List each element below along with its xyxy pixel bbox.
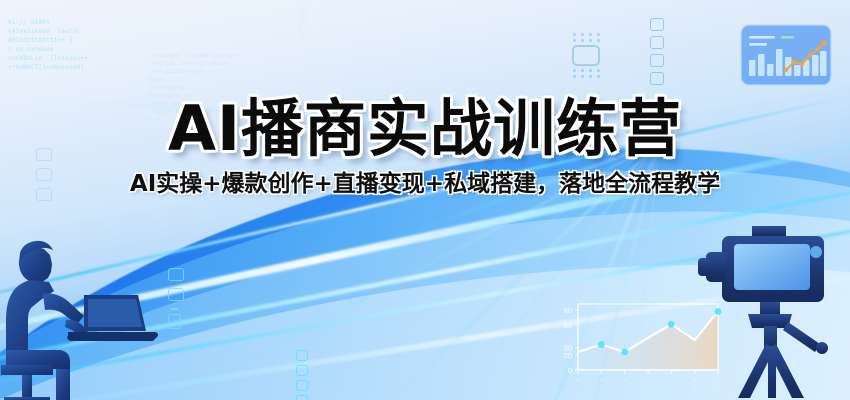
rounded-square-accents-mid <box>168 268 184 336</box>
svg-text:••: •• <box>670 378 673 383</box>
svg-text:30: 30 <box>564 344 572 353</box>
svg-text:0: 0 <box>568 366 572 375</box>
svg-text:••: •• <box>577 378 580 383</box>
svg-text:80: 80 <box>564 306 572 315</box>
banner-title: AI播商实战训练营 <box>0 98 850 160</box>
background-wave-mid <box>0 84 850 400</box>
light-streak <box>0 262 850 400</box>
course-banner: 01:// 01001 {AIxxSinode ixetQc d01bd2fSQ… <box>0 0 850 400</box>
headline-block: AI播商实战训练营 AI实操+爆款创作+直播变现+私域搭建，落地全流程教学 <box>0 98 850 196</box>
bar-chart-growth-icon <box>740 24 832 86</box>
rounded-square-accents-right <box>650 18 664 90</box>
svg-text:••: •• <box>693 385 696 390</box>
light-ray <box>103 140 661 400</box>
light-streak <box>0 91 850 337</box>
svg-text:••: •• <box>717 378 720 383</box>
background-wave-pale <box>0 185 850 400</box>
background-wave-deep <box>0 49 850 400</box>
svg-text:60: 60 <box>564 321 572 330</box>
light-ray <box>31 96 660 144</box>
decorative-vertical-code: ∷00□u⌐ <box>296 2 307 50</box>
banner-subtitle: AI实操+爆款创作+直播变现+私域搭建，落地全流程教学 <box>0 173 850 196</box>
svg-text:••: •• <box>647 385 650 390</box>
light-streak <box>0 122 850 363</box>
camera-on-tripod-silhouette <box>694 214 850 400</box>
decorative-code-text: 01:// 01001 {AIxxSinode ixetQc d01bd2fSQ… <box>8 18 128 72</box>
light-ray <box>628 141 661 400</box>
svg-text:••: •• <box>600 378 603 383</box>
light-ray <box>559 141 661 400</box>
light-ray <box>141 140 660 179</box>
light-streak <box>0 201 850 400</box>
light-ray <box>239 140 661 400</box>
light-ray <box>474 141 661 379</box>
rounded-square-accents-wave <box>296 350 308 400</box>
decorative-code-text-2: /*xxxxeeOxx CAxxOn tgtxxxxxx [xxoC1jom_.… <box>148 52 308 124</box>
svg-text:••: •• <box>670 385 673 390</box>
cpu-chip-icon <box>572 30 600 81</box>
svg-text:••: •• <box>647 378 650 383</box>
light-ray <box>463 141 662 400</box>
background-wave-light <box>0 129 850 400</box>
light-ray <box>344 141 661 400</box>
svg-text:••: •• <box>693 378 696 383</box>
svg-text:20: 20 <box>564 351 572 360</box>
person-with-laptop-silhouette <box>0 222 164 400</box>
light-ray <box>377 140 660 246</box>
svg-text:••: •• <box>623 378 626 383</box>
light-ray <box>364 141 662 400</box>
mini-line-chart: 020306080•••••••••••••••••••••• <box>548 296 724 394</box>
light-streak <box>0 155 850 385</box>
light-ray <box>259 140 660 227</box>
svg-text:••: •• <box>717 385 720 390</box>
rounded-square-accents-left <box>36 148 52 208</box>
